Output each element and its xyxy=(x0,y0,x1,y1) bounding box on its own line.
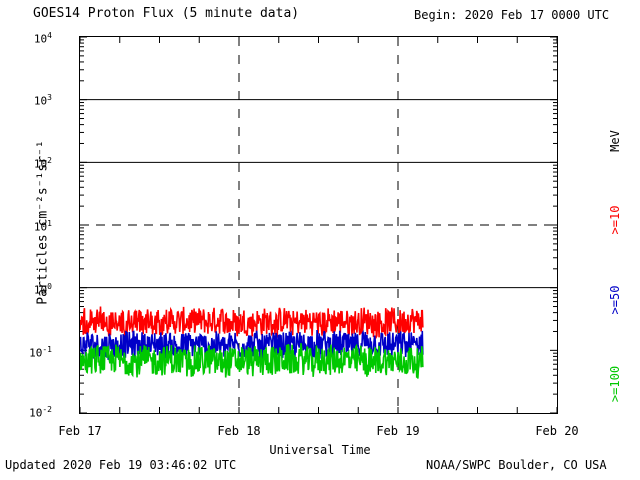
plot-area xyxy=(79,36,558,414)
y-tick-1e1: 101 xyxy=(34,219,52,234)
chart-page: GOES14 Proton Flux (5 minute data) Begin… xyxy=(0,0,640,480)
right-label-ge50: >=50 xyxy=(608,270,622,330)
right-label-ge100: >=100 xyxy=(608,349,622,419)
y-tick-1em1: 10-1 xyxy=(29,345,52,360)
right-axis-labels: MeV >=10 >=50 >=100 xyxy=(600,36,630,412)
right-label-ge10: >=10 xyxy=(608,190,622,250)
updated-label: Updated 2020 Feb 19 03:46:02 UTC xyxy=(5,458,236,472)
y-tick-1e3: 103 xyxy=(34,93,52,108)
x-tick-feb17: Feb 17 xyxy=(48,424,112,438)
y-tick-1em2: 10-2 xyxy=(29,405,52,420)
begin-time-label: Begin: 2020 Feb 17 0000 UTC xyxy=(414,8,609,22)
flux-plot-svg xyxy=(80,37,557,413)
x-axis-label: Universal Time xyxy=(0,443,640,457)
source-label: NOAA/SWPC Boulder, CO USA xyxy=(426,458,607,472)
x-tick-feb19: Feb 19 xyxy=(366,424,430,438)
chart-title: GOES14 Proton Flux (5 minute data) xyxy=(33,6,299,21)
y-tick-1e4: 104 xyxy=(34,31,52,46)
right-label-mev: MeV xyxy=(608,113,622,169)
y-tick-1e2: 102 xyxy=(34,156,52,171)
x-tick-feb18: Feb 18 xyxy=(207,424,271,438)
x-tick-feb20: Feb 20 xyxy=(525,424,589,438)
plot-canvas xyxy=(80,37,557,413)
y-tick-1e0: 100 xyxy=(34,282,52,297)
